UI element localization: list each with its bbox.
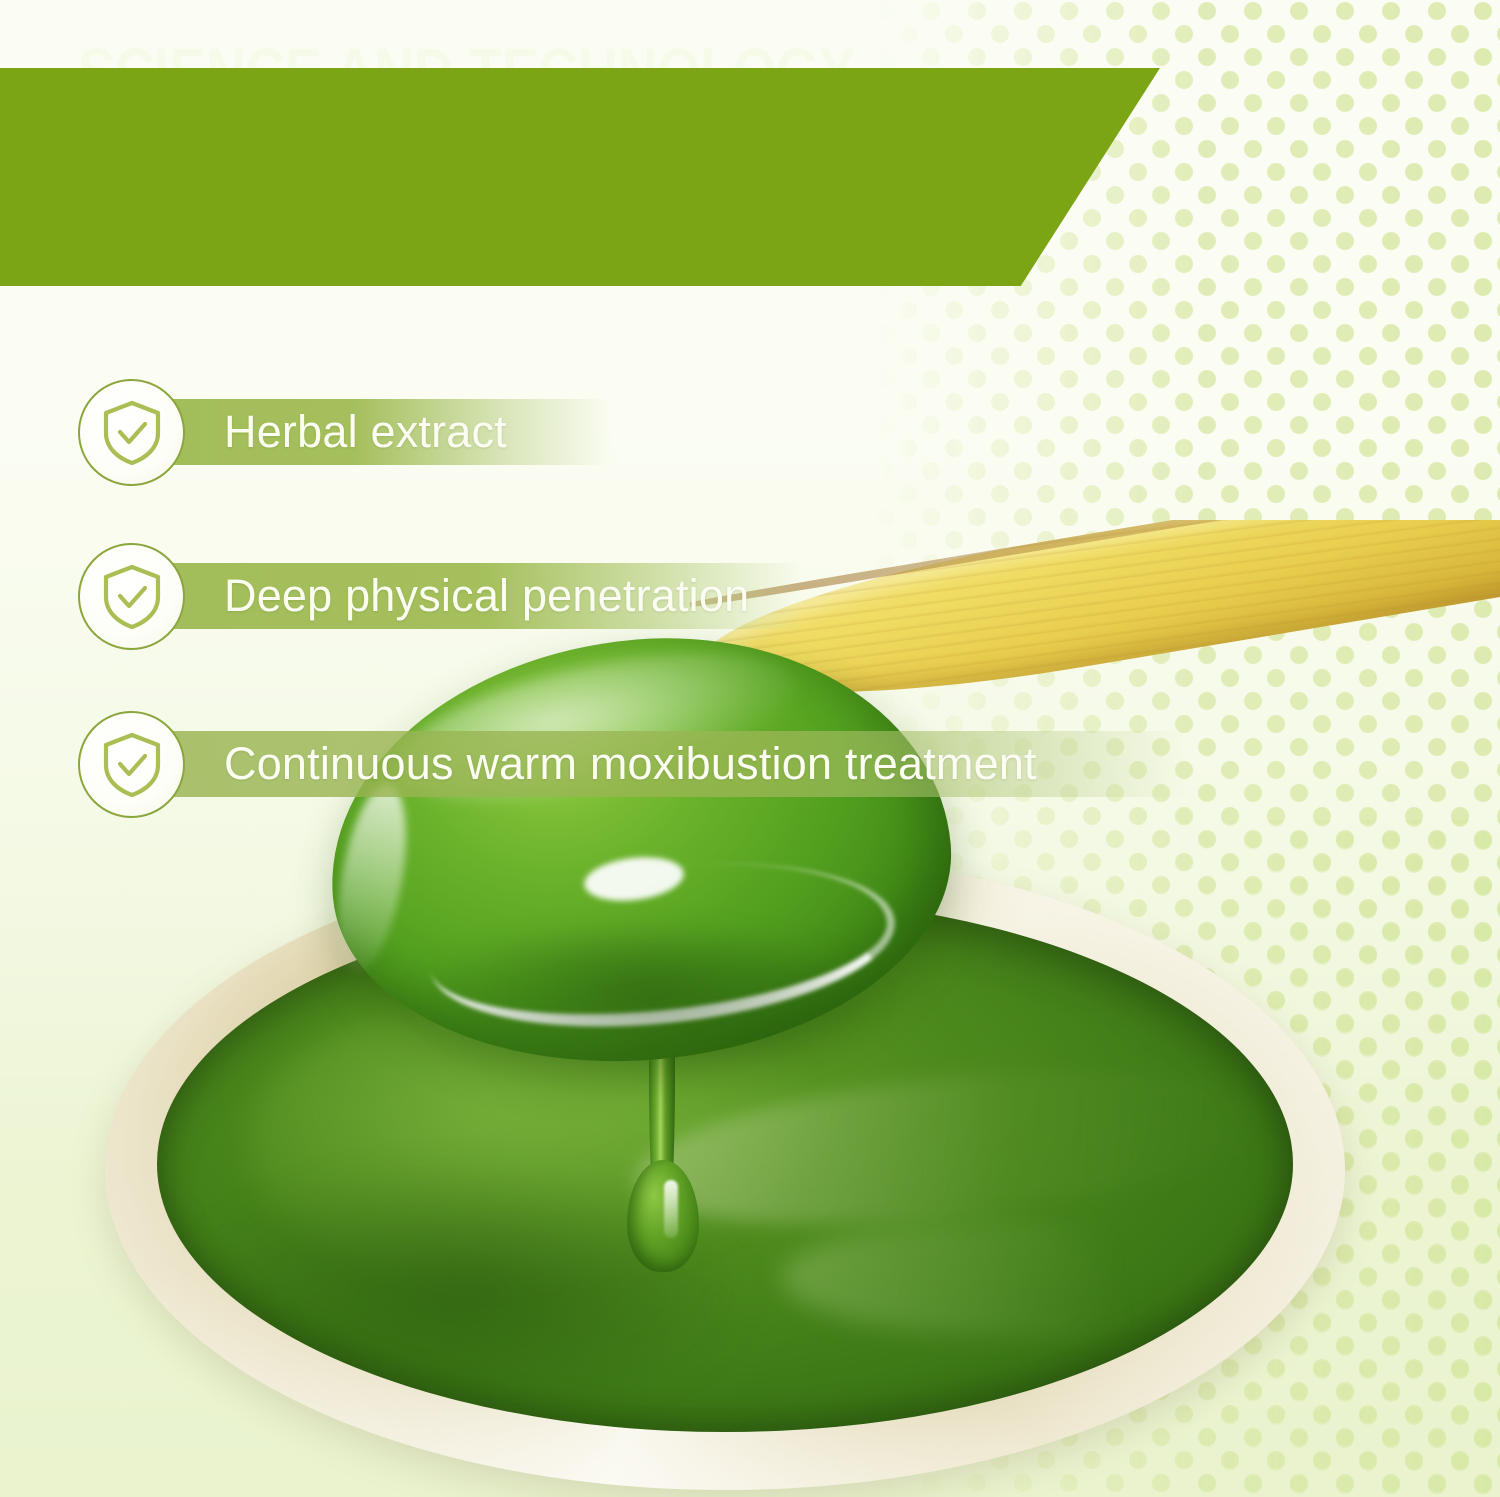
product-photo: [0, 520, 1500, 1497]
header-banner: [0, 68, 1160, 286]
shield-check-icon: [101, 399, 163, 467]
feature-bar: Deep physical penetration: [132, 563, 802, 629]
feature-label: Herbal extract: [224, 406, 507, 458]
feature-bar: Herbal extract: [132, 399, 612, 465]
feature-icon-badge: [78, 379, 185, 486]
shield-check-icon: [101, 563, 163, 631]
paste-drip-highlight: [664, 1180, 678, 1238]
paste-shadow-low: [404, 934, 888, 1077]
spoon-paste-scoop: [330, 640, 950, 1060]
feature-label: Deep physical penetration: [224, 570, 749, 622]
feature-label: Continuous warm moxibustion treatment: [224, 738, 1037, 790]
feature-icon-badge: [78, 543, 185, 650]
feature-icon-badge: [78, 711, 185, 818]
promo-infographic: SCIENCE AND TECHNOLOGY CAREFULLY MADE He…: [0, 0, 1500, 1497]
shield-check-icon: [101, 731, 163, 799]
feature-bar: Continuous warm moxibustion treatment: [132, 731, 1187, 797]
paste-highlight-c: [782, 1218, 1259, 1336]
